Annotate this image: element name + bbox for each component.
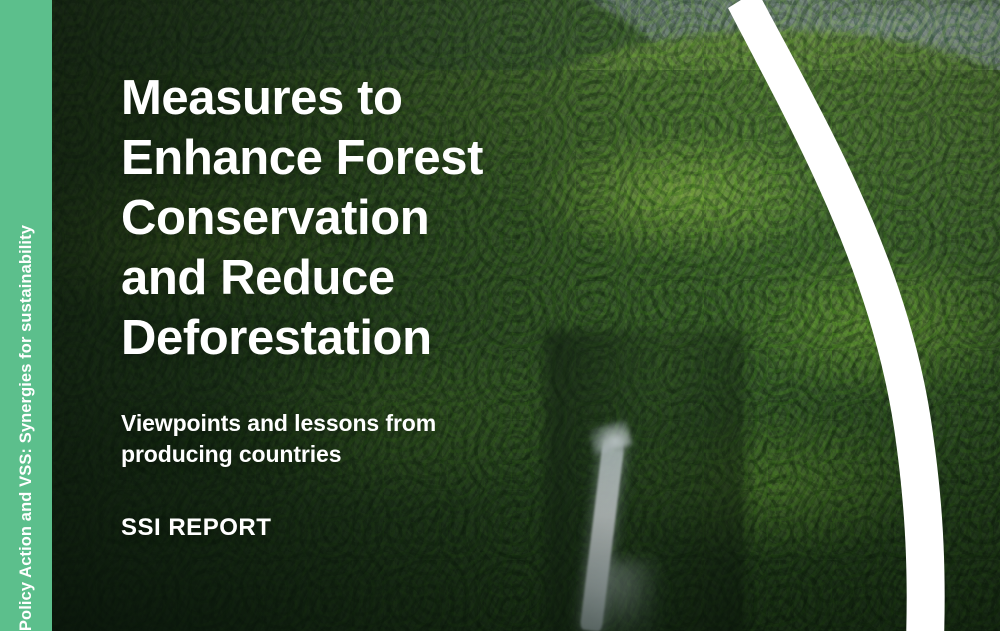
page-subtitle: Viewpoints and lessons from producing co… xyxy=(121,408,641,470)
title-line-4: and Reduce xyxy=(121,248,641,308)
subtitle-line-2: producing countries xyxy=(121,439,641,470)
cover-copy-block: Measures to Enhance Forest Conservation … xyxy=(121,68,641,542)
subtitle-line-1: Viewpoints and lessons from xyxy=(121,408,641,439)
side-spine-banner: Policy Action and VSS: Synergies for sus… xyxy=(0,0,52,631)
title-line-3: Conservation xyxy=(121,188,641,248)
title-line-5: Deforestation xyxy=(121,308,641,368)
report-cover: Policy Action and VSS: Synergies for sus… xyxy=(0,0,1000,631)
title-line-2: Enhance Forest xyxy=(121,128,641,188)
title-line-1: Measures to xyxy=(121,68,641,128)
spine-series-label: Policy Action and VSS: Synergies for sus… xyxy=(0,169,52,631)
page-title: Measures to Enhance Forest Conservation … xyxy=(121,68,641,368)
report-type-label: SSI REPORT xyxy=(121,514,641,542)
